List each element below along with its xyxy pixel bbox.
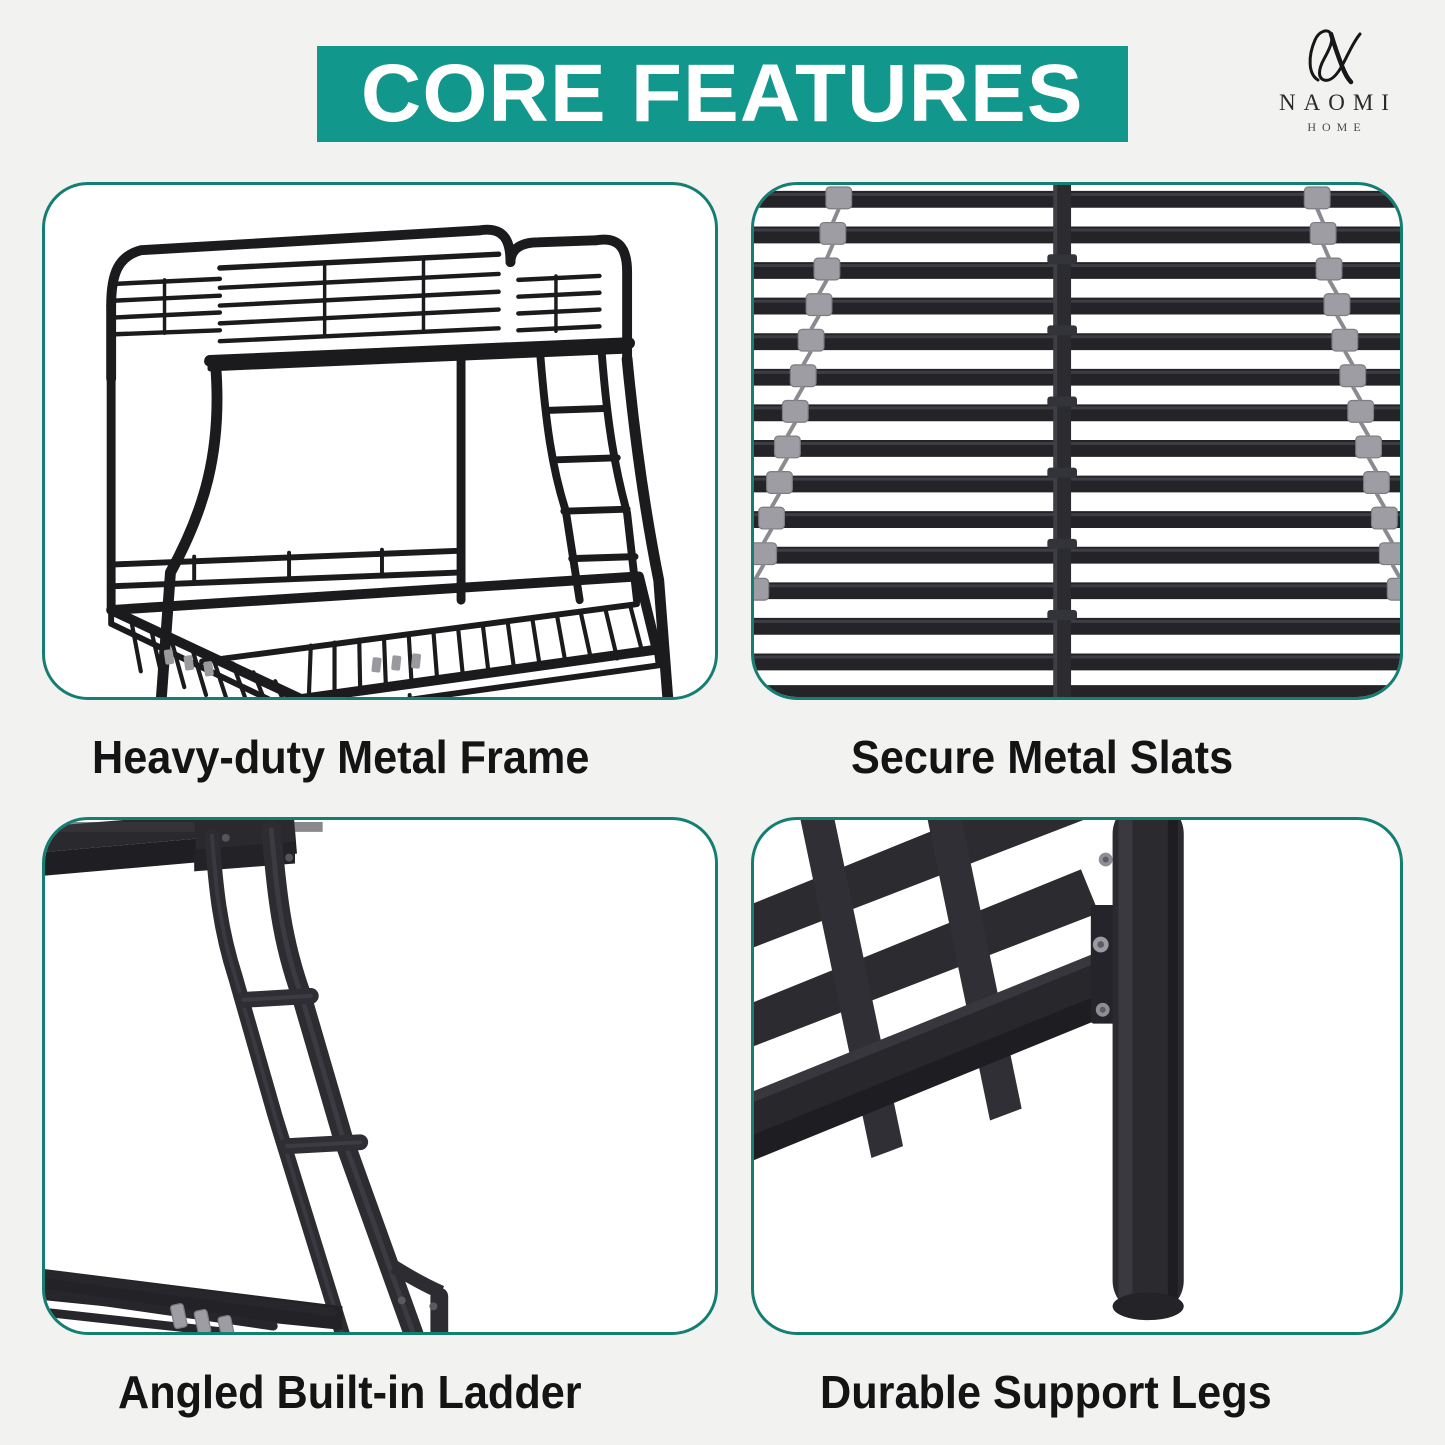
- bunk-bed-full-view-image: [45, 185, 715, 697]
- feature-card-secure-metal-slats: [751, 182, 1403, 700]
- header-bar: CORE FEATURES NAOMI HOME: [0, 0, 1445, 165]
- title-banner: CORE FEATURES: [317, 46, 1128, 142]
- feature-caption-durable-support-legs: Durable Support Legs: [820, 1365, 1272, 1419]
- page-title: CORE FEATURES: [361, 53, 1084, 135]
- brand-logo: NAOMI HOME: [1259, 26, 1409, 144]
- feature-card-angled-built-in-ladder: [42, 817, 718, 1335]
- feature-caption-secure-metal-slats: Secure Metal Slats: [851, 730, 1233, 784]
- metal-slats-closeup-image: [754, 185, 1400, 697]
- angled-ladder-closeup-image: [45, 820, 715, 1332]
- brand-subtitle: HOME: [1301, 120, 1366, 135]
- feature-caption-angled-built-in-ladder: Angled Built-in Ladder: [118, 1365, 582, 1419]
- feature-card-durable-support-legs: [751, 817, 1403, 1335]
- feature-card-heavy-duty-metal-frame: [42, 182, 718, 700]
- brand-name: NAOMI: [1271, 90, 1397, 116]
- support-leg-closeup-image: [754, 820, 1400, 1332]
- naomi-n-monogram-icon: [1298, 26, 1370, 88]
- feature-caption-heavy-duty-metal-frame: Heavy-duty Metal Frame: [92, 730, 589, 784]
